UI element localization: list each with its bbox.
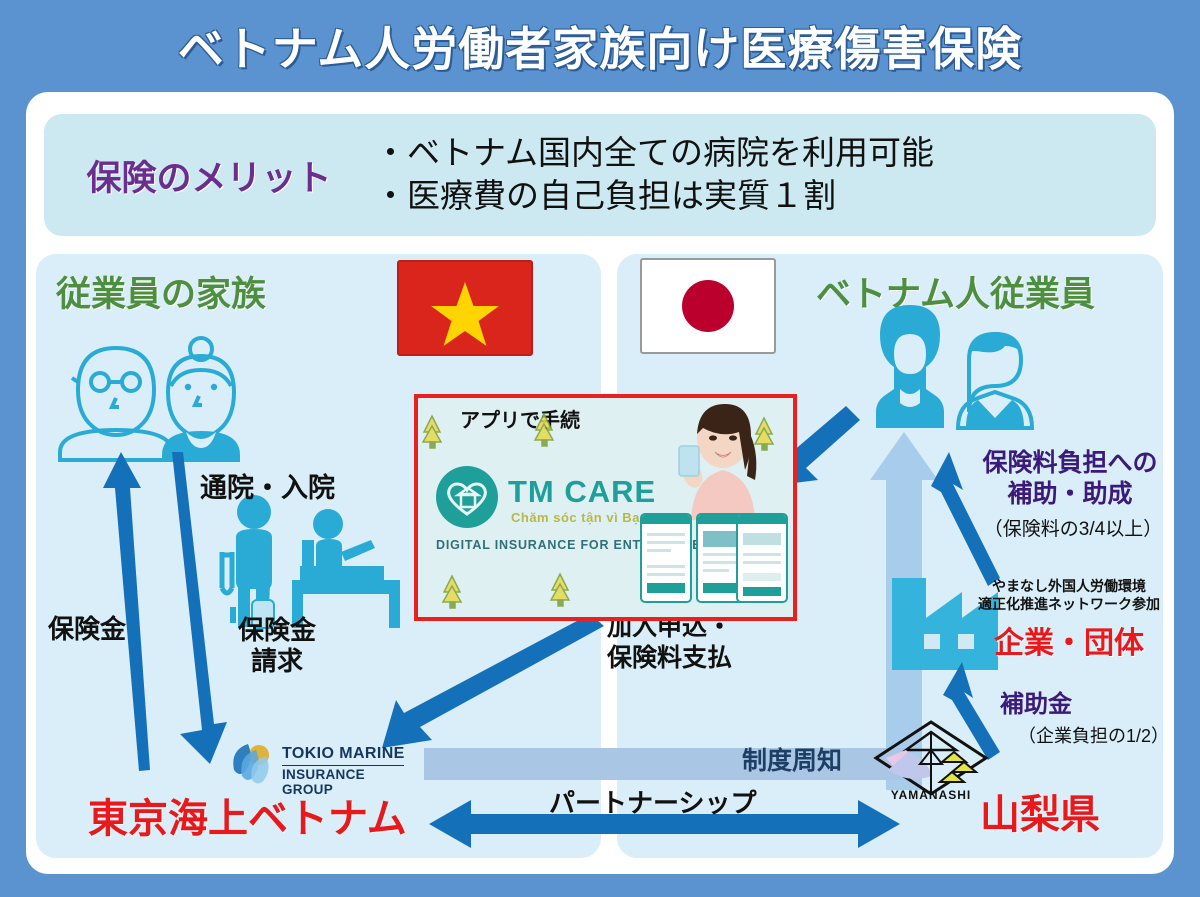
vietnam-star-shape: [399, 262, 531, 354]
benefit-item: ・医療費の自己負担は実質１割: [374, 175, 1136, 218]
phone-row: [647, 565, 685, 568]
vietnam-flag-icon: [397, 260, 533, 356]
app-screenshot-1: [640, 513, 692, 603]
application-label: 加入申込・ 保険料支払: [607, 612, 732, 673]
phone-row: [743, 533, 781, 545]
phone-row: [743, 587, 781, 596]
phone-row: [743, 561, 781, 564]
benefits-box: 保険のメリット ・ベトナム国内全ての病院を利用可能 ・医療費の自己負担は実質１割: [44, 114, 1156, 236]
family-panel-heading: 従業員の家族: [56, 266, 266, 317]
phone-row: [647, 573, 685, 576]
grant-note: （企業負担の1/2）: [1018, 722, 1169, 748]
tm-care-ad-panel[interactable]: アプリで手続 TM CARE Chăm sóc t: [414, 394, 797, 621]
grant-label: 補助金: [1000, 684, 1072, 719]
premium-subsidy-label: 保険料負担への 補助・助成: [970, 448, 1170, 509]
network-line-2: 適正化推進ネットワーク参加: [963, 596, 1175, 614]
tokio-marine-mark-icon: [228, 740, 274, 786]
premium-subsidy-note: （保険料の3/4以上）: [968, 514, 1178, 541]
phone-statusbar: [738, 515, 786, 524]
benefit-item: ・ベトナム国内全ての病院を利用可能: [374, 132, 1136, 175]
app-screenshot-3: [736, 513, 788, 603]
tokio-marine-group: INSURANCE GROUP: [282, 767, 408, 797]
system-awareness-label: 制度周知: [742, 741, 842, 777]
tokio-marine-name: TOKIO MARINE: [282, 745, 405, 763]
insurance-payout-label: 保険金: [48, 609, 126, 646]
phone-row: [743, 573, 781, 581]
tm-care-heart-icon: [436, 466, 498, 528]
phone-row: [647, 583, 685, 593]
phone-row: [647, 533, 685, 536]
tm-care-tagline: Chăm sóc tận vì Bạn: [511, 510, 648, 525]
phone-statusbar: [642, 515, 690, 524]
phone-row: [647, 549, 671, 552]
ad-model-photo: [657, 400, 777, 520]
subsidy-line-2: 補助・助成: [970, 479, 1170, 510]
page-title: ベトナム人労働者家族向け医療傷害保険: [178, 13, 1023, 79]
network-participation-label: やまなし外国人労働環境 適正化推進ネットワーク参加: [963, 578, 1175, 614]
yamanashi-logo-text: YAMANASHI: [872, 788, 990, 802]
partnership-label: パートナーシップ: [549, 783, 756, 820]
title-bar: ベトナム人労働者家族向け医療傷害保険: [0, 0, 1200, 92]
benefits-list: ・ベトナム国内全ての病院を利用可能 ・医療費の自己負担は実質１割: [374, 132, 1156, 218]
phone-row: [647, 541, 685, 544]
japan-flag-icon: [640, 258, 776, 354]
infographic-root: ベトナム人労働者家族向け医療傷害保険 保険のメリット ・ベトナム国内全ての病院を…: [0, 0, 1200, 897]
employee-panel-heading: ベトナム人従業員: [816, 266, 1095, 317]
phone-row: [743, 553, 781, 556]
yamanashi-pref-label: 山梨県: [980, 782, 1100, 840]
tokio-marine-divider: [282, 765, 404, 766]
phone-row: [703, 569, 729, 572]
application-line-2: 保険料支払: [607, 643, 732, 674]
claim-line-1: 保険金: [238, 615, 316, 646]
subsidy-line-1: 保険料負担への: [970, 448, 1170, 479]
benefits-label: 保険のメリット: [44, 150, 374, 201]
claim-line-2: 請求: [238, 646, 316, 677]
company-label: 企業・団体: [963, 618, 1175, 662]
tokio-marine-logo: TOKIO MARINE INSURANCE GROUP: [228, 740, 408, 788]
outpatient-inpatient-label: 通院・入院: [200, 466, 335, 505]
network-line-1: やまなし外国人労働環境: [963, 578, 1175, 596]
tm-care-brand: TM CARE: [508, 474, 656, 510]
tm-care-logo-mark: [436, 466, 498, 528]
insurance-claim-label: 保険金 請求: [238, 615, 316, 677]
japan-flag-disc: [682, 280, 734, 332]
